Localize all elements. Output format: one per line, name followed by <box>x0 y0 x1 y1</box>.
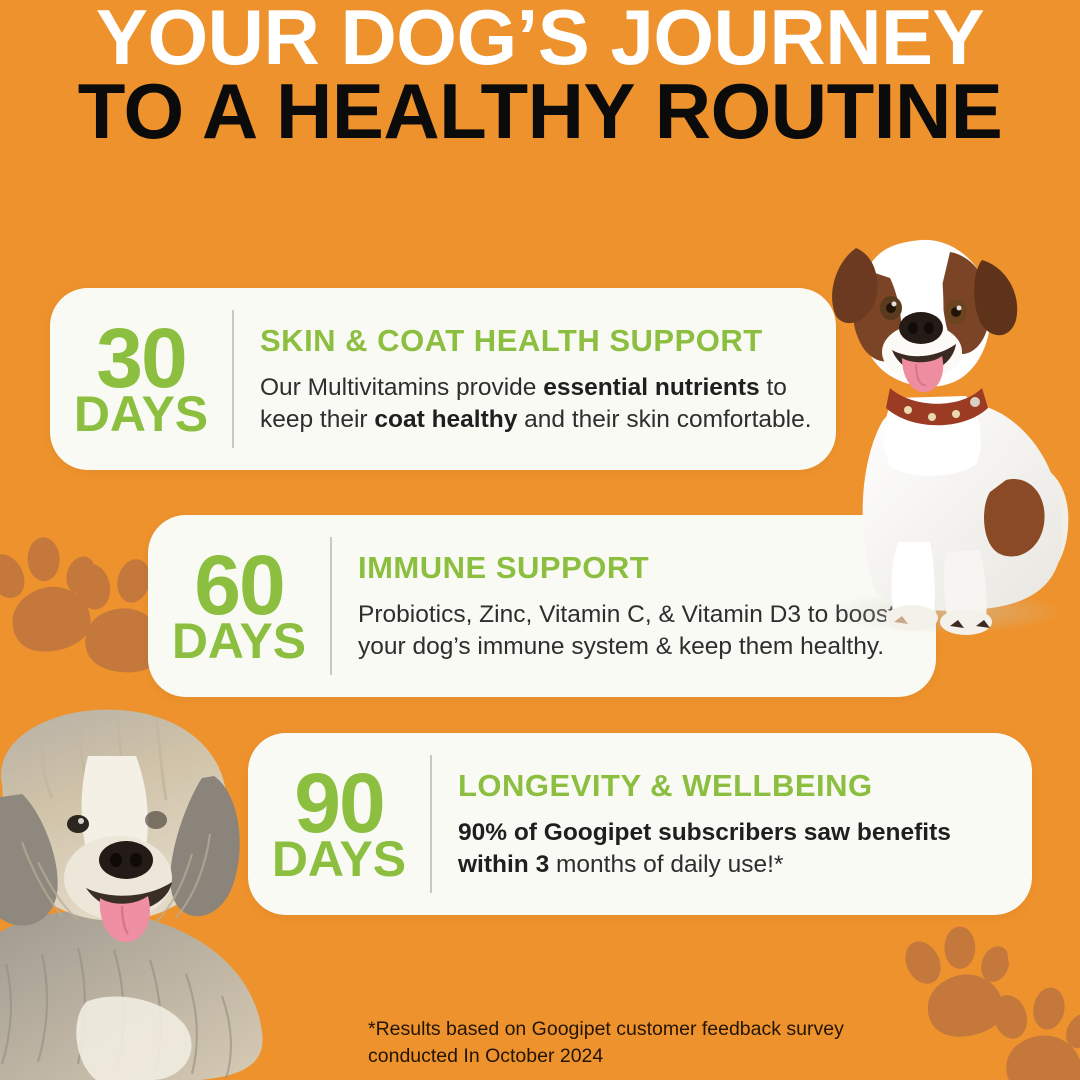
card-body: LONGEVITY & WELLBEING 90% of Googipet su… <box>432 768 1032 881</box>
dog-photo-shaggy-sheepdog <box>0 702 306 1080</box>
paw-print-icon <box>986 983 1080 1080</box>
card-title: SKIN & COAT HEALTH SUPPORT <box>260 323 818 359</box>
card-number-block: 60 DAYS <box>148 549 330 662</box>
card-body: SKIN & COAT HEALTH SUPPORT Our Multivita… <box>234 323 836 436</box>
card-title: LONGEVITY & WELLBEING <box>458 768 1014 804</box>
headline-line-2: TO A HEALTHY ROUTINE <box>0 74 1080 148</box>
footnote-line-2: conducted In October 2024 <box>368 1043 928 1070</box>
card-description: 90% of Googipet subscribers saw benefits… <box>458 817 1014 881</box>
headline-line-1: YOUR DOG’S JOURNEY <box>0 0 1080 74</box>
card-days-label: DAYS <box>60 393 222 436</box>
milestone-card-90-days: 90 DAYS LONGEVITY & WELLBEING 90% of Goo… <box>248 733 1032 915</box>
milestone-card-30-days: 30 DAYS SKIN & COAT HEALTH SUPPORT Our M… <box>50 288 836 470</box>
card-description: Our Multivitamins provide essential nutr… <box>260 372 818 436</box>
card-number: 30 <box>60 322 222 394</box>
card-number: 60 <box>158 549 320 621</box>
dog-photo-jack-russell <box>790 212 1080 647</box>
card-days-label: DAYS <box>158 620 320 663</box>
infographic-canvas: YOUR DOG’S JOURNEY TO A HEALTHY ROUTINE … <box>0 0 1080 1080</box>
card-number-block: 30 DAYS <box>50 322 232 435</box>
footnote: *Results based on Googipet customer feed… <box>368 1016 928 1070</box>
headline: YOUR DOG’S JOURNEY TO A HEALTHY ROUTINE <box>0 0 1080 148</box>
footnote-line-1: *Results based on Googipet customer feed… <box>368 1016 928 1043</box>
